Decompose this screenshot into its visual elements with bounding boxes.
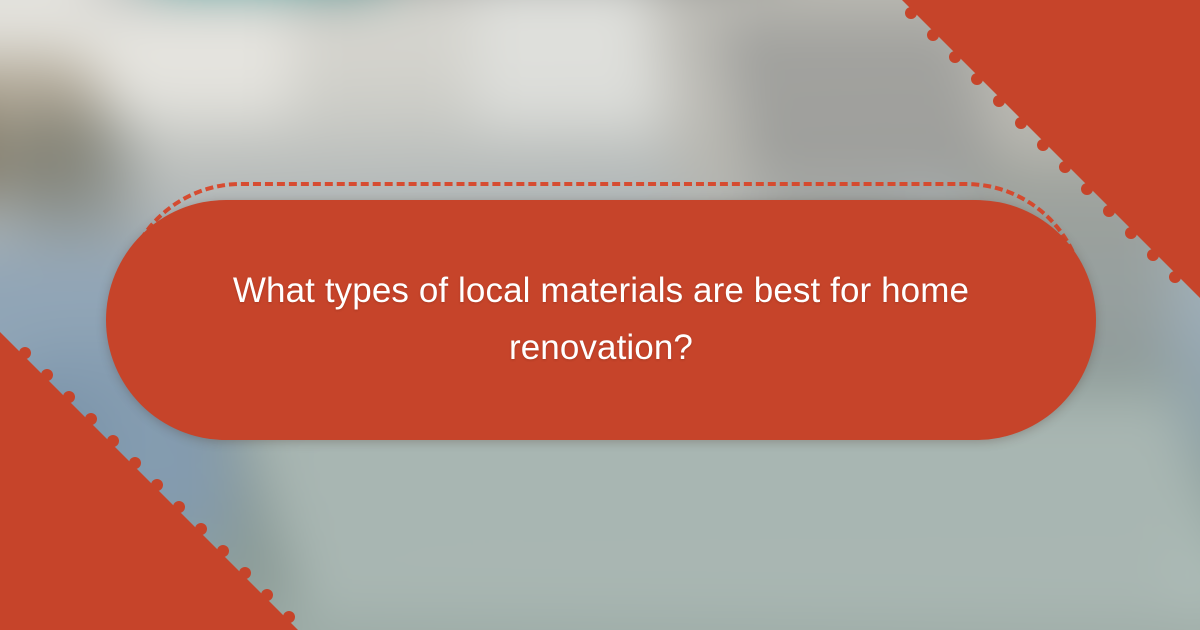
share-card-canvas: What types of local materials are best f…	[0, 0, 1200, 630]
bg-tan-object-3	[6, 108, 133, 235]
question-card: What types of local materials are best f…	[106, 200, 1096, 440]
question-title: What types of local materials are best f…	[191, 263, 1011, 376]
question-card-content: What types of local materials are best f…	[191, 263, 1011, 376]
